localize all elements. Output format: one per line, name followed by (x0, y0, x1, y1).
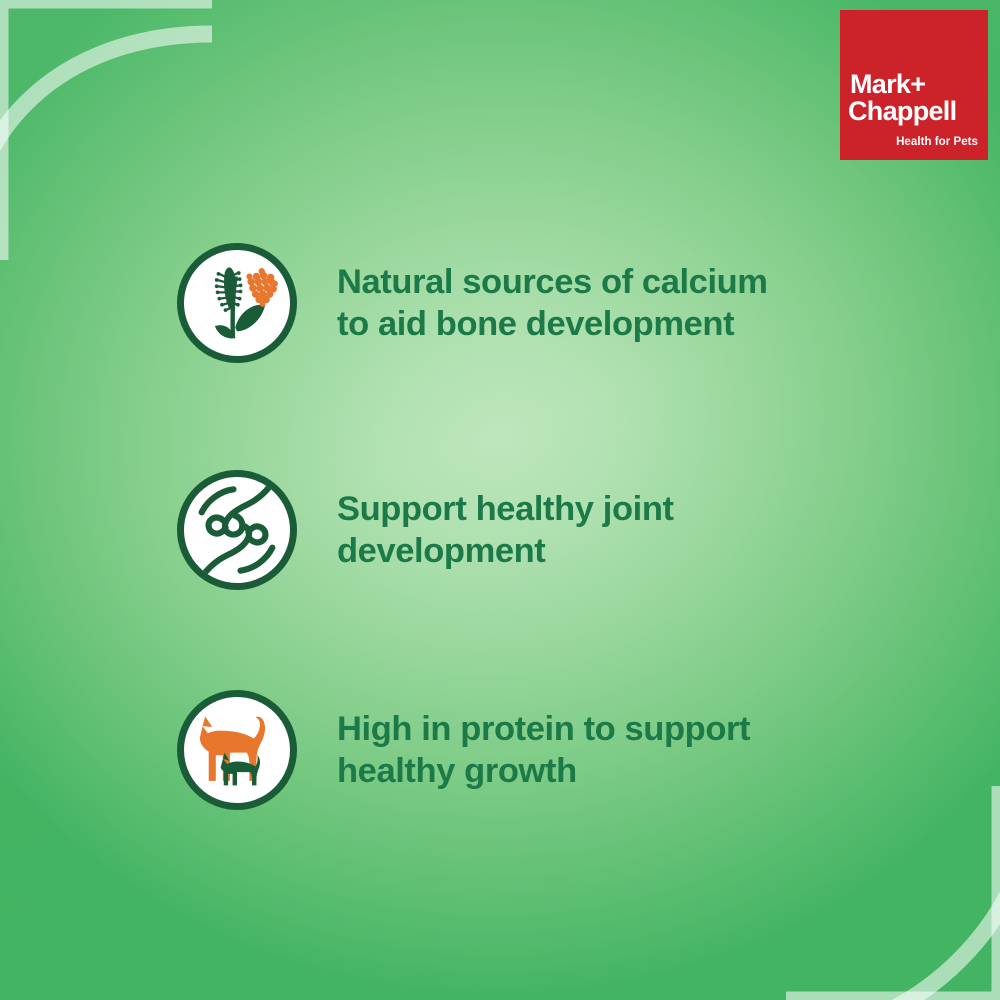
benefit-text-joint: Support healthy joint development (337, 488, 674, 572)
benefit-list: Natural sources of calcium to aid bone d… (0, 0, 1000, 1000)
benefit-item-calcium: Natural sources of calcium to aid bone d… (177, 243, 768, 363)
benefit-item-protein: High in protein to support healthy growt… (177, 690, 750, 810)
benefit-text-calcium: Natural sources of calcium to aid bone d… (337, 261, 768, 345)
benefit-text-protein: High in protein to support healthy growt… (337, 708, 750, 792)
benefit-item-joint: Support healthy joint development (177, 470, 674, 590)
cat-and-kitten-icon (177, 690, 297, 810)
bone-joint-icon (177, 470, 297, 590)
product-benefits-panel: Mark+ Chappell Health for Pets (0, 0, 1000, 1000)
herb-plant-icon (177, 243, 297, 363)
